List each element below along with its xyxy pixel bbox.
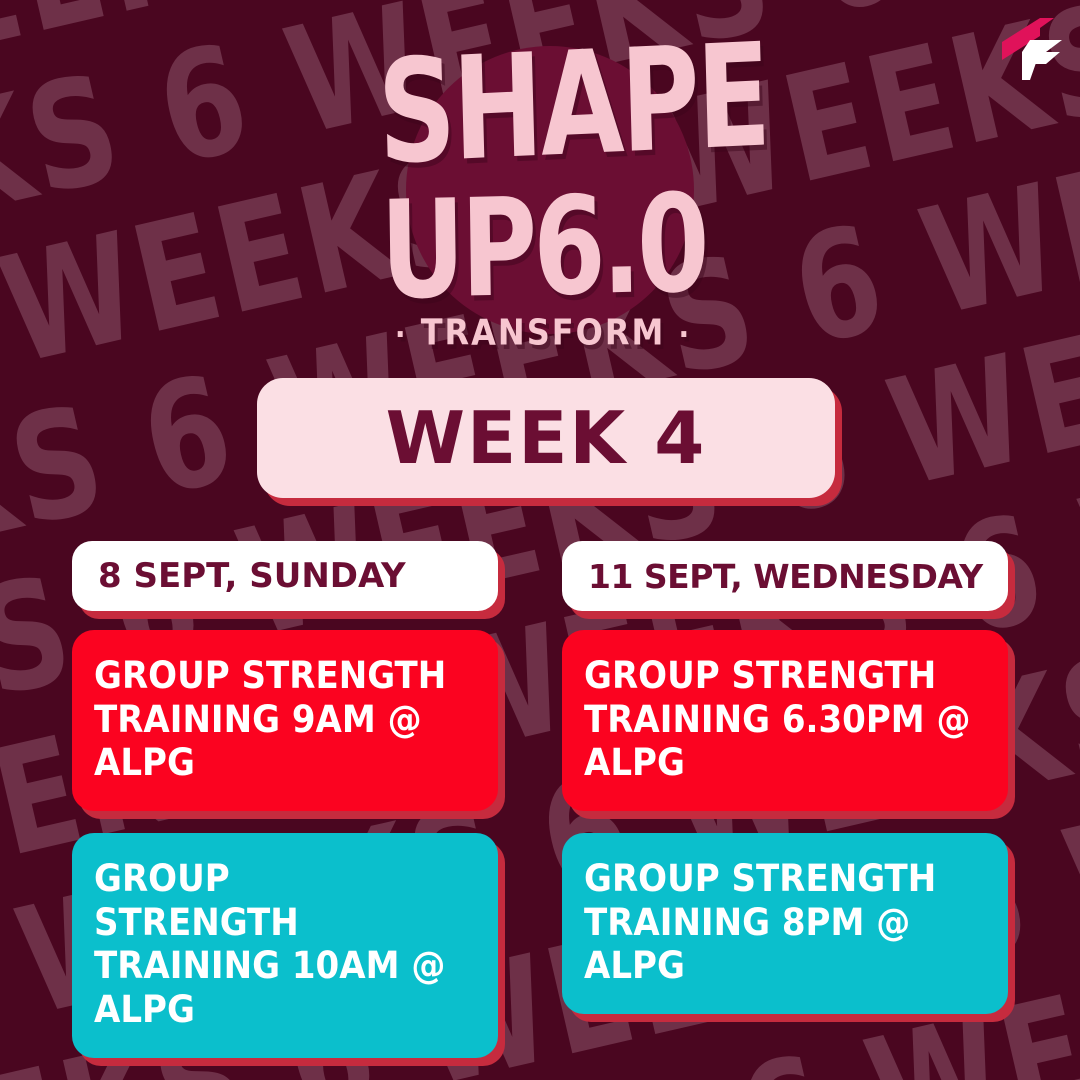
brand-logo-icon [996,12,1066,84]
session-card-sunday-late-morning[interactable]: GROUP STRENGTH TRAINING 10AM @ ALPG [72,833,498,1058]
week-title: WEEK 4 [386,402,707,474]
date-pill-wednesday[interactable]: 11 SEPT, WEDNESDAY [562,541,1008,611]
session-card-wednesday-night[interactable]: GROUP STRENGTH TRAINING 8PM @ ALPG [562,833,1008,1014]
day-column-wednesday: 11 SEPT, WEDNESDAY GROUP STRENGTH TRAINI… [562,541,1008,1080]
shape-up-logo: SHAPE UP6.0 · TRANSFORM · [378,18,708,363]
date-pill-label: 11 SEPT, WEDNESDAY [588,557,983,596]
session-text: GROUP STRENGTH TRAINING 6.30PM @ ALPG [584,654,983,785]
session-card-sunday-morning[interactable]: GROUP STRENGTH TRAINING 9AM @ ALPG [72,630,498,811]
week-banner: WEEK 4 [257,378,835,498]
date-pill-sunday[interactable]: 8 SEPT, SUNDAY [72,541,498,611]
logo-dot-right: · [678,316,691,353]
logo-tagline-text: TRANSFORM [421,311,666,354]
session-text: GROUP STRENGTH TRAINING 9AM @ ALPG [94,654,474,785]
date-pill-label: 8 SEPT, SUNDAY [98,556,406,596]
logo-tagline: · TRANSFORM · [378,311,708,354]
session-text: GROUP STRENGTH TRAINING 10AM @ ALPG [94,857,445,1032]
schedule-columns: 8 SEPT, SUNDAY GROUP STRENGTH TRAINING 9… [0,541,1080,1080]
session-card-wednesday-evening[interactable]: GROUP STRENGTH TRAINING 6.30PM @ ALPG [562,630,1008,811]
session-text: GROUP STRENGTH TRAINING 8PM @ ALPG [584,857,954,988]
poster-canvas: 6 WEEKS 6 WEEKS 6 WEEKS 6 WEEKS 6 WEEKS … [0,0,1080,1080]
logo-dot-left: · [395,316,408,353]
logo-line-up6: UP6.0 [377,164,709,330]
day-column-sunday: 8 SEPT, SUNDAY GROUP STRENGTH TRAINING 9… [72,541,498,1080]
